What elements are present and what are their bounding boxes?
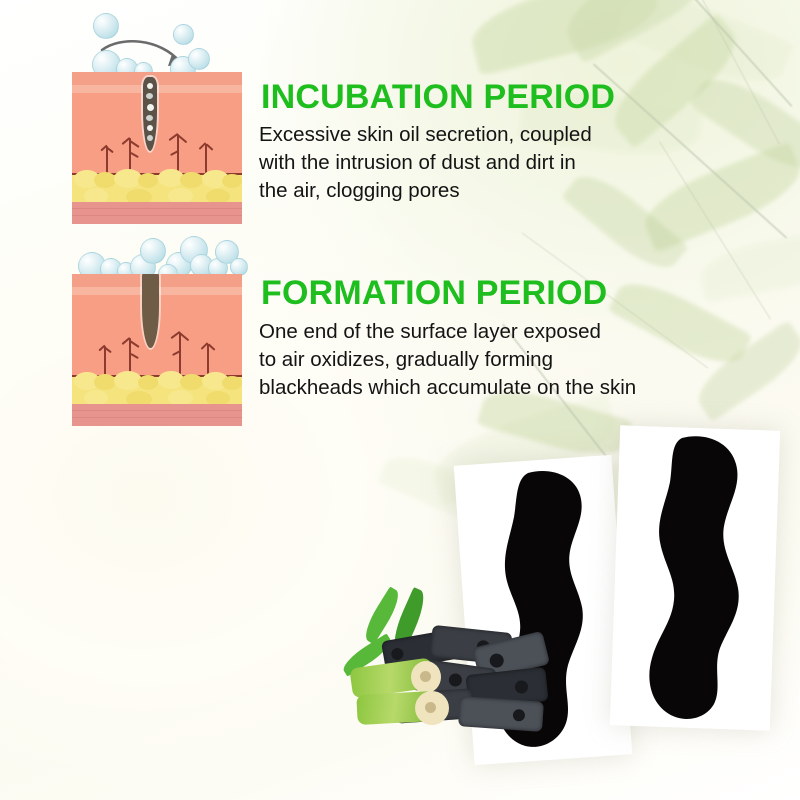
nose-strip bbox=[620, 432, 770, 722]
body-line: Excessive skin oil secretion, coupled bbox=[259, 121, 679, 149]
capillary bbox=[100, 146, 116, 174]
charcoal-piece bbox=[458, 696, 544, 732]
bamboo-charcoal-cluster bbox=[335, 605, 570, 745]
epidermis-lower-layer bbox=[72, 85, 242, 93]
skin-cross-section bbox=[72, 274, 242, 426]
fat-layer bbox=[72, 377, 242, 404]
bubble bbox=[188, 48, 210, 70]
muscle-layer bbox=[72, 404, 242, 426]
bubble bbox=[140, 238, 166, 264]
bubble bbox=[173, 24, 194, 45]
body-line: to air oxidizes, gradually forming bbox=[259, 346, 699, 374]
infographic-page: INCUBATION PERIOD Excessive skin oil sec… bbox=[0, 0, 800, 800]
capillary bbox=[98, 346, 114, 376]
bamboo-cut-face bbox=[411, 661, 441, 693]
capillary bbox=[168, 134, 190, 174]
muscle-layer bbox=[72, 202, 242, 224]
body-line: blackheads which accumulate on the skin bbox=[259, 374, 699, 402]
body-formation: One end of the surface layer exposed to … bbox=[259, 318, 699, 402]
product-photo bbox=[440, 410, 800, 800]
fat-layer bbox=[72, 175, 242, 202]
diagram-incubation bbox=[70, 8, 245, 226]
body-line: the air, clogging pores bbox=[259, 177, 679, 205]
capillary bbox=[170, 332, 192, 376]
body-incubation: Excessive skin oil secretion, coupled wi… bbox=[259, 121, 679, 205]
heading-formation: FORMATION PERIOD bbox=[261, 274, 607, 313]
bamboo-cut-face bbox=[415, 691, 449, 725]
skin-cross-section bbox=[72, 72, 242, 224]
diagram-formation bbox=[70, 232, 245, 428]
body-line: One end of the surface layer exposed bbox=[259, 318, 699, 346]
bubble bbox=[93, 13, 119, 39]
body-line: with the intrusion of dust and dirt in bbox=[259, 149, 679, 177]
epidermis-layer bbox=[72, 72, 242, 85]
heading-incubation: INCUBATION PERIOD bbox=[261, 78, 615, 117]
